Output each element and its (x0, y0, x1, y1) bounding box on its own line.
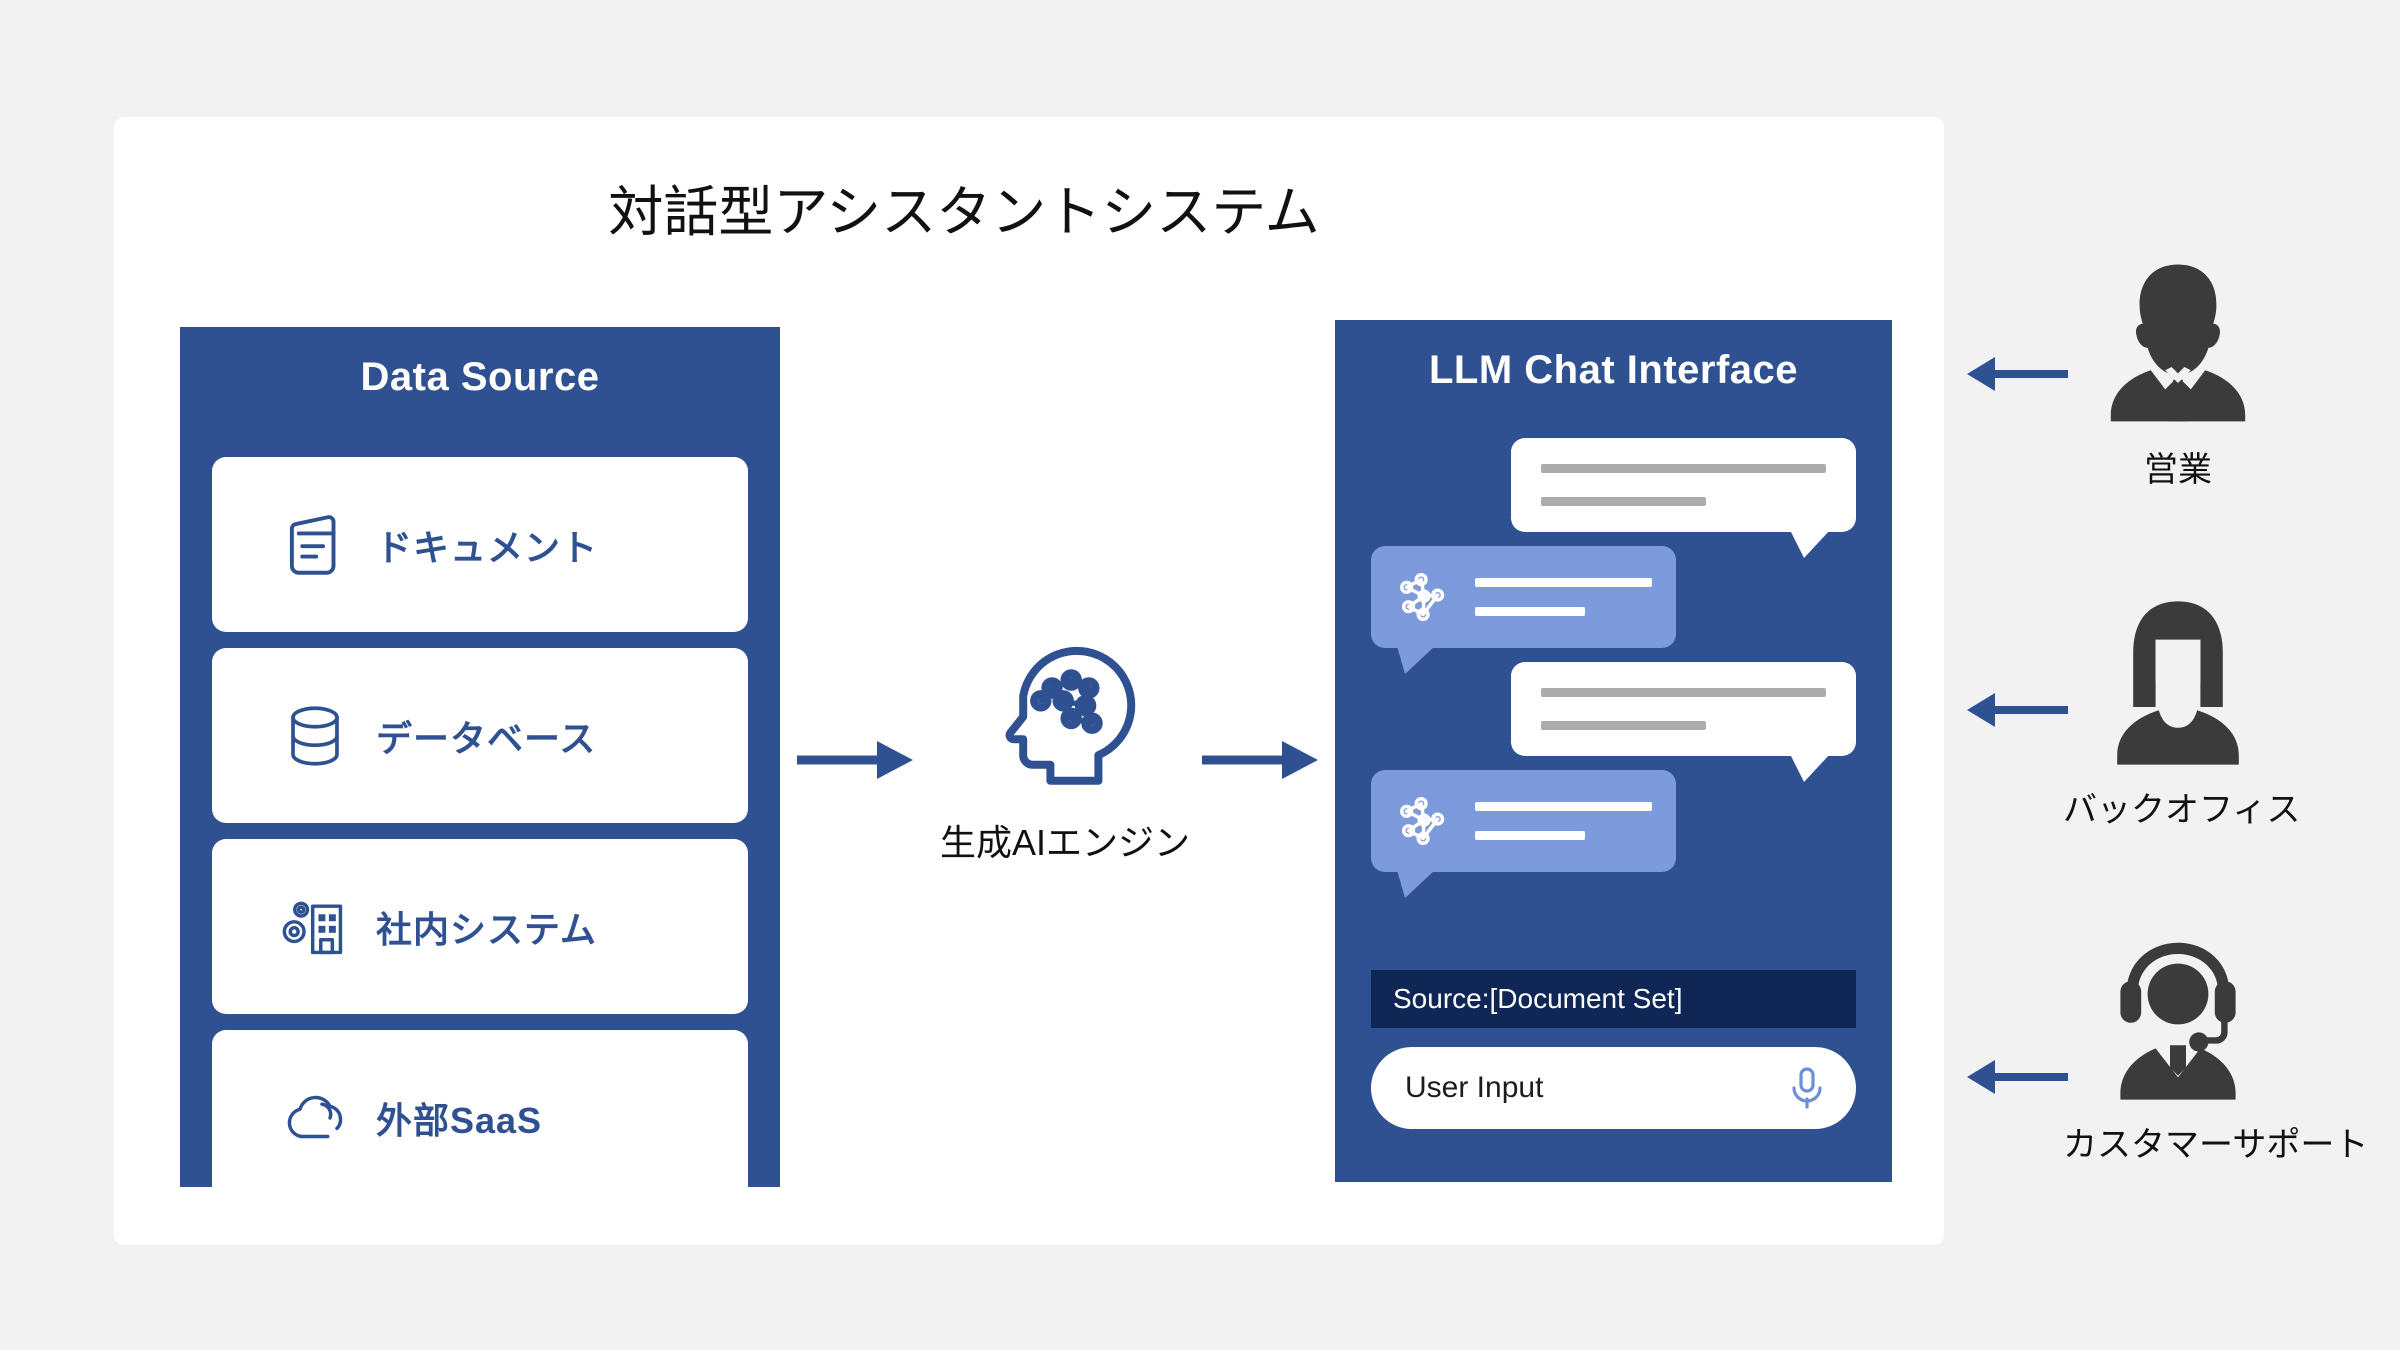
ai-head-brain-icon (980, 640, 1140, 800)
text-placeholder-line (1475, 607, 1585, 616)
bubble-tail (1790, 530, 1830, 558)
chat-bubble (1371, 770, 1676, 872)
chat-bubble (1511, 662, 1856, 756)
text-placeholder-line (1475, 578, 1652, 587)
chat-message-user (1511, 662, 1856, 756)
text-placeholder-line (1541, 721, 1706, 730)
arrow-left-icon (1965, 1055, 2070, 1099)
arrow-left-icon (1965, 352, 2070, 396)
persona-label: バックオフィス (2063, 782, 2293, 831)
chat-message-user (1511, 438, 1856, 532)
diagram-canvas: 対話型アシスタントシステム Data Source ドキュメント (0, 0, 2400, 1350)
chat-message-ai (1371, 770, 1676, 872)
bubble-tail (1397, 870, 1435, 898)
text-placeholder-line (1475, 831, 1585, 840)
data-source-list: ドキュメント データベース (212, 457, 748, 1205)
text-placeholder-line (1541, 688, 1826, 697)
persona-label: 営業 (2063, 442, 2293, 491)
cloud-saas-icon (278, 1081, 352, 1155)
data-source-title: Data Source (180, 355, 780, 400)
chat-bubble (1371, 546, 1676, 648)
persona-label: カスタマーサポート (2063, 1117, 2293, 1166)
text-placeholder-lines (1475, 802, 1652, 840)
user-input-bar[interactable]: User Input (1371, 1047, 1856, 1129)
persona-back-office: バックオフィス (2063, 595, 2293, 831)
bubble-tail (1790, 754, 1830, 782)
arrow-right-icon (1200, 735, 1320, 785)
arrow-right-icon (795, 735, 915, 785)
arrow-left-icon (1965, 688, 2070, 732)
llm-chat-panel: LLM Chat Interface (1335, 320, 1892, 1182)
bubble-tail (1397, 646, 1435, 674)
source-badge-label: Source:[Document Set] (1393, 983, 1682, 1015)
internal-system-icon (278, 890, 352, 964)
data-source-item-label: データベース (376, 710, 596, 762)
neural-network-icon (1395, 790, 1457, 852)
database-icon (278, 699, 352, 773)
microphone-icon[interactable] (1788, 1066, 1826, 1110)
neural-network-icon (1395, 566, 1457, 628)
businessman-avatar-icon (2098, 255, 2258, 430)
page-title: 対話型アシスタントシステム (114, 167, 1814, 247)
persona-sales: 営業 (2063, 255, 2293, 491)
data-source-item-external-saas[interactable]: 外部SaaS (212, 1030, 748, 1205)
text-placeholder-line (1541, 497, 1706, 506)
source-badge: Source:[Document Set] (1371, 970, 1856, 1028)
text-placeholder-line (1475, 802, 1652, 811)
chat-panel-title: LLM Chat Interface (1335, 348, 1892, 393)
support-agent-avatar-icon (2098, 930, 2258, 1105)
document-icon (278, 508, 352, 582)
data-source-item-database[interactable]: データベース (212, 648, 748, 823)
generative-ai-engine: 生成AIエンジン (940, 640, 1180, 866)
chat-bubble (1511, 438, 1856, 532)
data-source-item-label: 社内システム (376, 901, 597, 953)
businesswoman-avatar-icon (2098, 595, 2258, 770)
data-source-item-label: 外部SaaS (376, 1092, 542, 1144)
data-source-item-internal-system[interactable]: 社内システム (212, 839, 748, 1014)
chat-message-list (1371, 438, 1856, 886)
data-source-item-document[interactable]: ドキュメント (212, 457, 748, 632)
text-placeholder-lines (1475, 578, 1652, 616)
persona-customer-support: カスタマーサポート (2063, 930, 2293, 1166)
text-placeholder-line (1541, 464, 1826, 473)
user-input-placeholder[interactable]: User Input (1405, 1071, 1788, 1105)
data-source-item-label: ドキュメント (376, 519, 598, 571)
chat-message-ai (1371, 546, 1676, 648)
engine-label: 生成AIエンジン (940, 814, 1180, 866)
data-source-panel: Data Source ドキュメント (180, 327, 780, 1187)
